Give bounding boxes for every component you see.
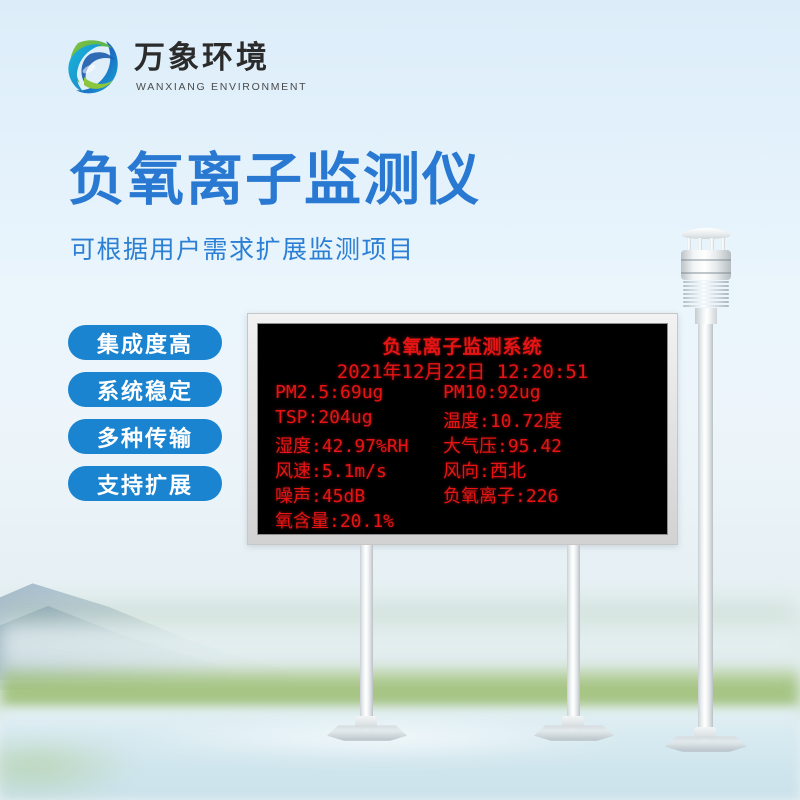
- brand-name-cn: 万象环境: [134, 42, 270, 73]
- led-row: PM2.5:69ug PM10:92ug: [258, 382, 667, 407]
- led-row: 氧含量:20.1%: [258, 507, 667, 532]
- page-subtitle: 可根据用户需求扩展监测项目: [70, 238, 415, 263]
- feature-badge-3: 多种传输: [68, 419, 222, 454]
- brand-logo: 万象环境 WANXIANG ENVIRONMENT: [62, 36, 302, 100]
- led-screen: 负氧离子监测系统 2021年12月22日 12:20:51 PM2.5:69ug…: [257, 323, 668, 535]
- led-readout-rows: PM2.5:69ug PM10:92ug TSP:204ug 温度:10.72度…: [258, 382, 667, 532]
- led-reading-pm10: PM10:92ug: [443, 382, 541, 403]
- radiation-shield-fins: [683, 281, 729, 308]
- led-reading-wind-speed: 风速:5.1m/s: [275, 457, 387, 483]
- led-reading-temperature: 温度:10.72度: [443, 407, 562, 433]
- led-reading-wind-direction: 风向:西北: [443, 457, 526, 483]
- led-reading-negative-ions: 负氧离子:226: [443, 482, 558, 508]
- led-reading-oxygen: 氧含量:20.1%: [275, 507, 394, 533]
- led-reading-pressure: 大气压:95.42: [443, 432, 562, 458]
- led-row: 湿度:42.97%RH 大气压:95.42: [258, 432, 667, 457]
- shield-fin: [683, 281, 729, 283]
- feature-badge-1: 集成度高: [68, 325, 222, 360]
- shield-fin: [683, 293, 729, 295]
- led-reading-tsp: TSP:204ug: [275, 407, 373, 428]
- shield-fin: [683, 305, 729, 307]
- foreground-grass-patch: [0, 742, 140, 800]
- shield-fin: [683, 297, 729, 299]
- feature-badge-2: 系统稳定: [68, 372, 222, 407]
- shield-fin: [683, 285, 729, 287]
- led-row: TSP:204ug 温度:10.72度: [258, 407, 667, 432]
- support-pole-right: [567, 545, 580, 732]
- feature-badge-list: 集成度高 系统稳定 多种传输 支持扩展: [68, 325, 222, 501]
- page-title: 负氧离子监测仪: [68, 152, 481, 209]
- sensor-neck: [695, 308, 717, 324]
- ultrasonic-weather-sensor-icon: [676, 228, 736, 323]
- led-reading-humidity: 湿度:42.97%RH: [275, 432, 409, 458]
- sensor-band: [681, 272, 731, 274]
- led-reading-pm25: PM2.5:69ug: [275, 382, 383, 403]
- globe-swirl-logo-icon: [62, 36, 124, 98]
- shield-fin: [683, 289, 729, 291]
- led-display-board: 负氧离子监测系统 2021年12月22日 12:20:51 PM2.5:69ug…: [247, 313, 678, 545]
- led-reading-noise: 噪声:45dB: [275, 482, 365, 508]
- sensor-band: [681, 259, 731, 261]
- product-promo-image: 万象环境 WANXIANG ENVIRONMENT 负氧离子监测仪 可根据用户需…: [0, 0, 800, 800]
- sensor-mast-pole: [698, 318, 713, 743]
- brand-name-en: WANXIANG ENVIRONMENT: [136, 81, 307, 93]
- led-system-title: 负氧离子监测系统: [258, 332, 667, 359]
- led-row: 噪声:45dB 负氧离子:226: [258, 482, 667, 507]
- shield-fin: [683, 301, 729, 303]
- led-datetime: 2021年12月22日 12:20:51: [258, 357, 667, 384]
- feature-badge-4: 支持扩展: [68, 466, 222, 501]
- support-pole-left: [360, 545, 373, 732]
- led-row: 风速:5.1m/s 风向:西北: [258, 457, 667, 482]
- sensor-body: [681, 250, 731, 280]
